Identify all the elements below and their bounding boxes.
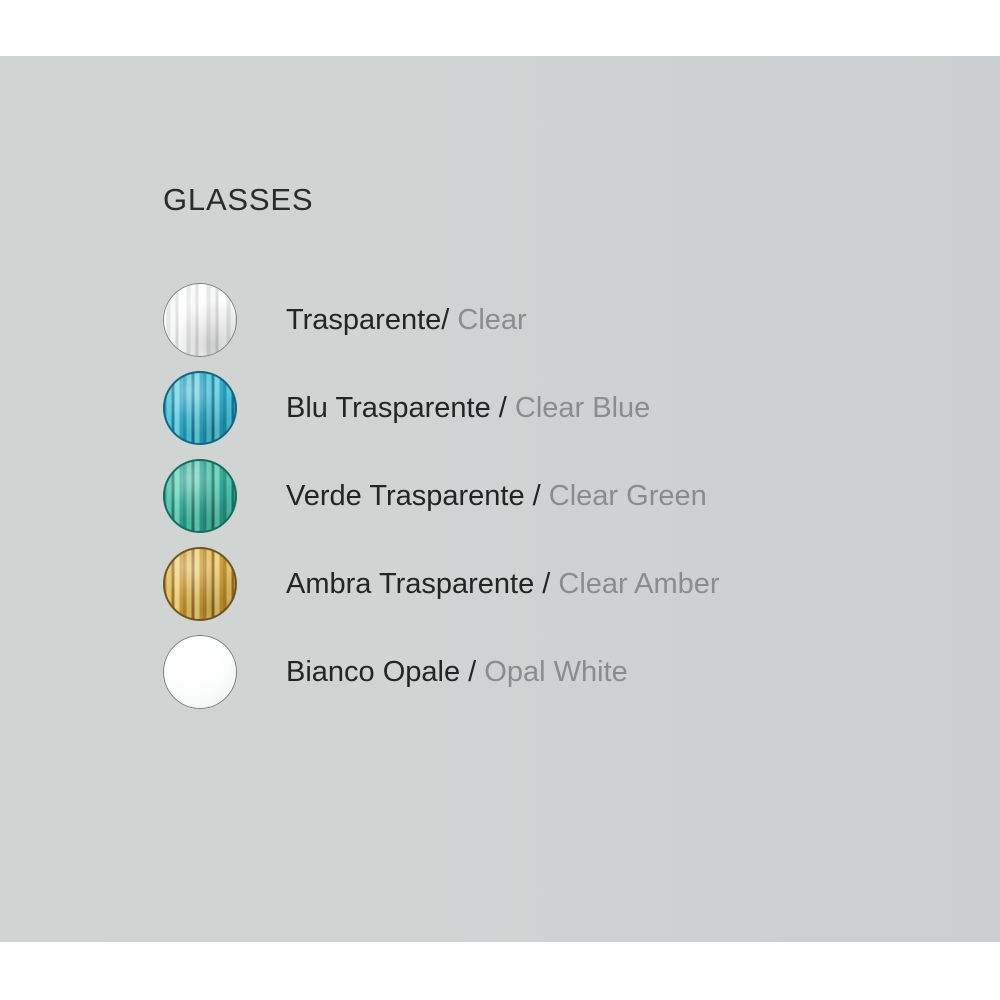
swatch-label: Trasparente/ Clear xyxy=(286,306,527,335)
swatch-label-english: Clear Amber xyxy=(550,568,719,600)
list-item[interactable]: Ambra Trasparente / Clear Amber xyxy=(163,540,963,628)
swatch-label-english: Clear Green xyxy=(541,480,707,512)
swatch-label: Verde Trasparente / Clear Green xyxy=(286,482,707,511)
glass-swatch-opal-white-icon xyxy=(163,635,237,709)
swatch-gloss xyxy=(163,371,237,445)
chart-panel: GLASSES Trasparente/ Clear Blu Trasparen… xyxy=(0,56,1000,942)
glasses-finish-chart: GLASSES Trasparente/ Clear Blu Trasparen… xyxy=(0,0,1000,1000)
swatch-label-italian: Bianco Opale / xyxy=(286,656,476,688)
list-item[interactable]: Trasparente/ Clear xyxy=(163,276,963,364)
swatch-label: Bianco Opale / Opal White xyxy=(286,658,628,687)
list-item[interactable]: Verde Trasparente / Clear Green xyxy=(163,452,963,540)
page-title: GLASSES xyxy=(163,184,963,215)
glass-swatch-clear-blue-icon xyxy=(163,371,237,445)
swatch-label-italian: Ambra Trasparente / xyxy=(286,568,550,600)
swatch-label-italian: Blu Trasparente / xyxy=(286,392,507,424)
swatch-label: Blu Trasparente / Clear Blue xyxy=(286,394,650,423)
glass-swatch-clear-icon xyxy=(163,283,237,357)
glass-swatch-clear-green-icon xyxy=(163,459,237,533)
swatch-label-english: Clear Blue xyxy=(507,392,650,424)
list-item[interactable]: Bianco Opale / Opal White xyxy=(163,628,963,716)
swatch-gloss xyxy=(163,547,237,621)
swatch-gloss xyxy=(163,635,237,709)
swatch-label-italian: Trasparente/ xyxy=(286,304,449,336)
swatch-label: Ambra Trasparente / Clear Amber xyxy=(286,570,720,599)
swatch-gloss xyxy=(163,283,237,357)
swatch-label-english: Opal White xyxy=(476,656,628,688)
glass-swatch-clear-amber-icon xyxy=(163,547,237,621)
swatch-gloss xyxy=(163,459,237,533)
swatch-label-english: Clear xyxy=(449,304,526,336)
chart-content: GLASSES Trasparente/ Clear Blu Trasparen… xyxy=(163,184,963,716)
list-item[interactable]: Blu Trasparente / Clear Blue xyxy=(163,364,963,452)
swatch-label-italian: Verde Trasparente / xyxy=(286,480,541,512)
